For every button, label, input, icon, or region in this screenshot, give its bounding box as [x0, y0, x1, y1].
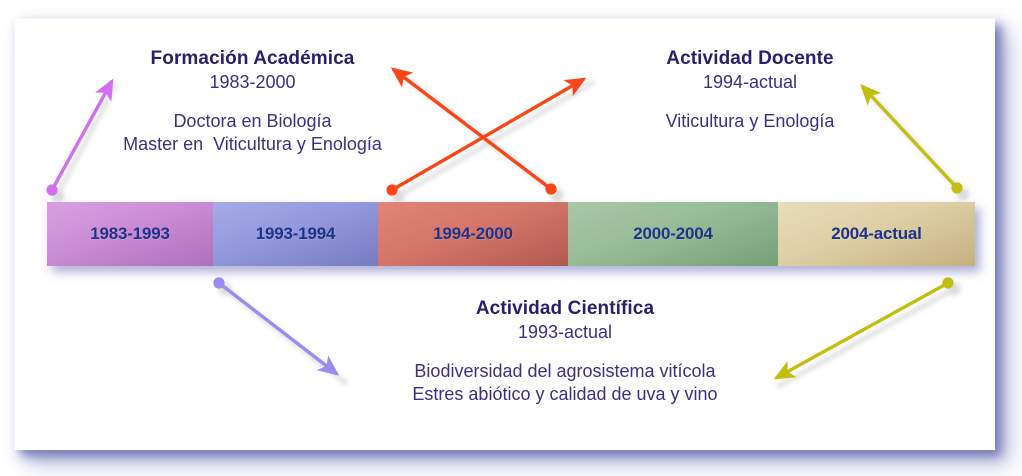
block-heading: Actividad Docente [600, 48, 900, 70]
timeline-segment-label: 1993-1994 [256, 224, 336, 244]
block-line: Biodiversidad del agrosistema vitícola [355, 360, 775, 383]
block-period: 1983-2000 [60, 72, 445, 93]
timeline-segment-label: 2000-2004 [633, 224, 713, 244]
timeline-segment-label: 2004-actual [831, 224, 921, 244]
block-period: 1994-actual [600, 72, 900, 93]
block-period: 1993-actual [355, 322, 775, 343]
timeline-segment-1993-1994[interactable]: 1993-1994 [213, 202, 378, 266]
timeline-segment-2000-2004[interactable]: 2000-2004 [568, 202, 778, 266]
block-line: Viticultura y Enología [600, 110, 900, 133]
timeline-segment-1983-1993[interactable]: 1983-1993 [47, 202, 213, 266]
timeline-segment-2004-actual[interactable]: 2004-actual [778, 202, 975, 266]
block-heading: Actividad Científica [355, 298, 775, 320]
block-actividad-cientifica: Actividad Científica 1993-actual Biodive… [355, 298, 775, 406]
spacer [60, 93, 445, 110]
block-line: Estres abiótico y calidad de uva y vino [355, 383, 775, 406]
timeline-segment-label: 1994-2000 [433, 224, 513, 244]
block-line: Master en Viticultura y Enología [60, 133, 445, 156]
block-heading: Formación Académica [60, 48, 445, 70]
timeline-segment-label: 1983-1993 [90, 224, 170, 244]
spacer [600, 93, 900, 110]
block-formacion-academica: Formación Académica 1983-2000 Doctora en… [60, 48, 445, 156]
block-actividad-docente: Actividad Docente 1994-actual Viticultur… [600, 48, 900, 133]
diagram-canvas: 1983-1993 1993-1994 1994-2000 2000-2004 … [0, 0, 1022, 476]
block-line: Doctora en Biología [60, 110, 445, 133]
timeline-segment-1994-2000[interactable]: 1994-2000 [378, 202, 568, 266]
career-timeline-bar: 1983-1993 1993-1994 1994-2000 2000-2004 … [47, 202, 975, 266]
spacer [355, 343, 775, 360]
